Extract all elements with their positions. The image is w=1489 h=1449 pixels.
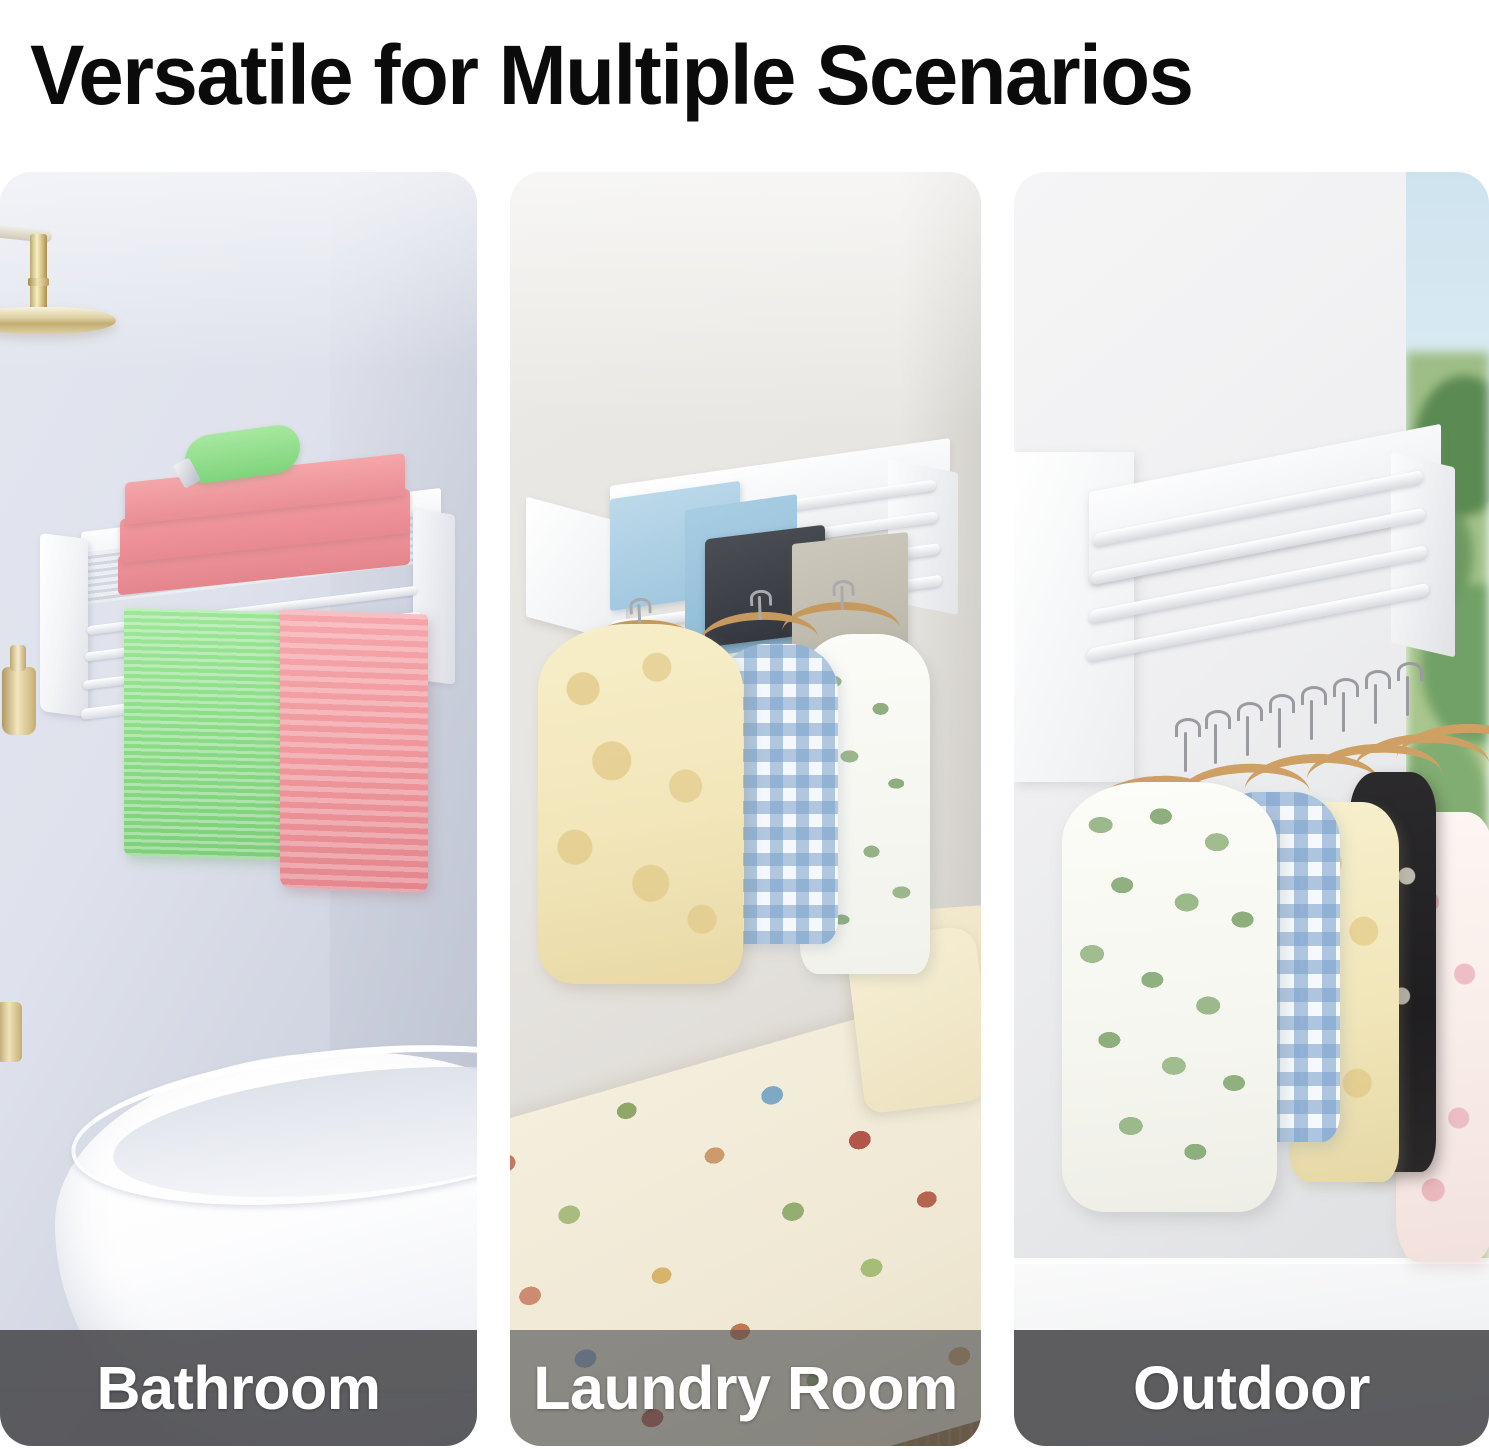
hanger-hook-icon — [1342, 692, 1345, 732]
panel-caption-outdoor: Outdoor — [1014, 1330, 1489, 1446]
green-leaf-print-blouse — [1062, 782, 1277, 1212]
hanging-green-towel — [124, 608, 292, 860]
gold-wall-valve-lower-icon — [0, 1002, 22, 1062]
scenario-panel-laundry-room[interactable]: Laundry Room — [510, 172, 981, 1446]
hanger-hook-icon — [1406, 676, 1409, 716]
outdoor-scene — [1014, 172, 1489, 1446]
hanger-hook-icon — [1278, 708, 1281, 748]
hanging-pink-towel — [280, 609, 428, 892]
caption-label: Laundry Room — [533, 1358, 957, 1419]
panel-caption-bathroom: Bathroom — [0, 1330, 477, 1446]
hanger-hook-icon — [1310, 700, 1313, 740]
hanger-hook-icon — [1246, 716, 1249, 756]
scenario-panel-bathroom[interactable]: Bathroom — [0, 172, 477, 1446]
laundry-room-light-glow — [510, 172, 981, 432]
bathroom-ceiling-glow — [0, 172, 477, 372]
drying-rack-outdoor — [1069, 462, 1489, 722]
scenario-panel-group: Bathroom — [0, 172, 1489, 1446]
headline-text: Versatile for Multiple Scenarios — [30, 33, 1192, 117]
hanger-hook-icon — [1184, 732, 1187, 772]
rack-wall-bracket — [40, 533, 88, 717]
laundry-room-scene — [510, 172, 981, 1446]
caption-label: Outdoor — [1133, 1358, 1370, 1419]
hanger-hook-icon — [1374, 684, 1377, 724]
shower-stem-icon — [30, 234, 47, 316]
caption-label: Bathroom — [96, 1358, 380, 1419]
bathroom-scene — [0, 172, 477, 1446]
page-title: Versatile for Multiple Scenarios — [0, 0, 1489, 150]
panel-caption-laundry-room: Laundry Room — [510, 1330, 981, 1446]
butterfly-print-top — [538, 624, 743, 984]
hanger-hook-icon — [1214, 724, 1217, 764]
gold-wall-valve-icon — [2, 667, 36, 735]
rack-rail-front — [1087, 583, 1429, 662]
scenario-panel-outdoor[interactable]: Outdoor — [1014, 172, 1489, 1446]
